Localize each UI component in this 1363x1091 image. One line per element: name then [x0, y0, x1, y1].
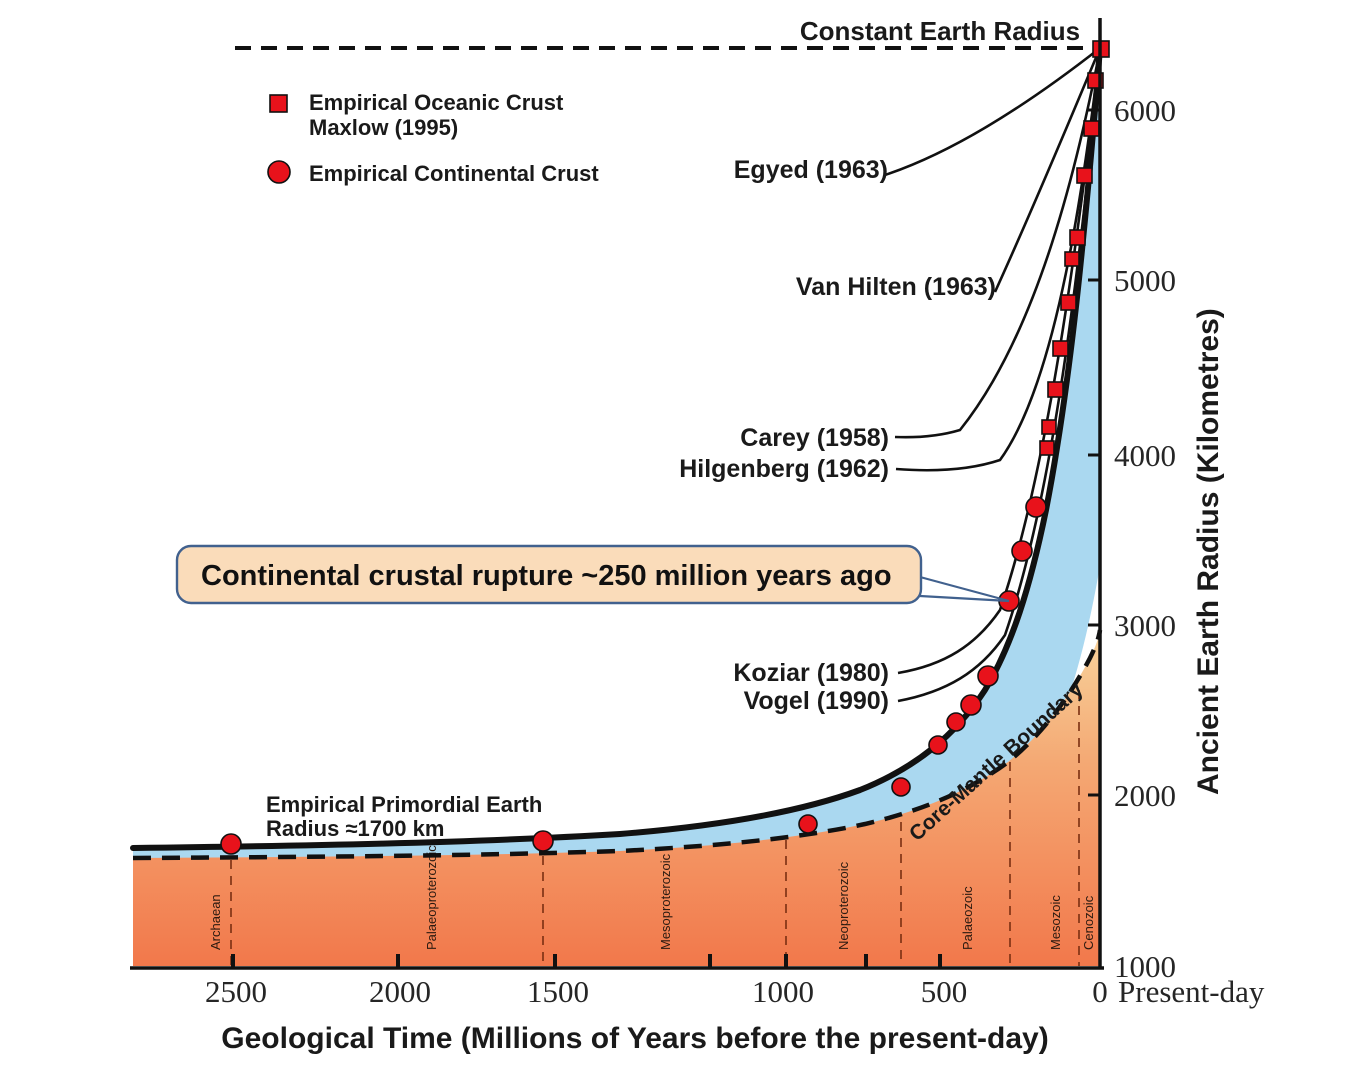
- era-label-archaean: Archaean: [208, 894, 223, 950]
- x-tick-2000: 2000: [369, 974, 431, 1009]
- continental-point: [1012, 541, 1032, 561]
- primordial-line1: Empirical Primordial Earth: [266, 792, 542, 817]
- era-label-palaeozoic: Palaeozoic: [960, 886, 975, 950]
- label-egyed-1963: Egyed (1963): [734, 156, 888, 184]
- y-tick-5000: 5000: [1114, 263, 1176, 298]
- label-koziar-1980: Koziar (1980): [733, 659, 889, 687]
- x-tick-1000: 1000: [752, 974, 814, 1009]
- continental-point: [221, 834, 241, 854]
- y-tick-6000: 6000: [1114, 93, 1176, 128]
- legend-square-marker: [270, 95, 287, 112]
- label-hilgenberg-1962: Hilgenberg (1962): [679, 455, 889, 483]
- era-label-neoproterozoic: Neoproterozoic: [836, 861, 851, 950]
- legend: Empirical Oceanic Crust Maxlow (1995) Em…: [268, 90, 599, 186]
- y-tick-2000: 2000: [1114, 778, 1176, 813]
- primordial-earth-label: Empirical Primordial Earth Radius ≈1700 …: [266, 792, 542, 841]
- x-tick-500: 500: [921, 974, 968, 1009]
- x-tick-1500: 1500: [527, 974, 589, 1009]
- continental-point: [961, 695, 981, 715]
- x-tick-0: 0: [1092, 974, 1108, 1009]
- continental-point: [978, 666, 998, 686]
- era-label-mesozoic: Mesozoic: [1048, 895, 1063, 950]
- label-vogel-1990: Vogel (1990): [744, 687, 889, 715]
- oceanic-point: [1040, 441, 1054, 455]
- legend-label-continental: Empirical Continental Crust: [309, 161, 599, 186]
- oceanic-point: [1053, 341, 1068, 356]
- y-tick-4000: 4000: [1114, 438, 1176, 473]
- chart-svg: Archaean Palaeoproterozoic Mesoproterozo…: [0, 0, 1363, 1091]
- label-van-hilten-1963: Van Hilten (1963): [796, 273, 996, 301]
- chart-figure: Archaean Palaeoproterozoic Mesoproterozo…: [0, 0, 1363, 1091]
- primordial-line2: Radius ≈1700 km: [266, 816, 444, 841]
- continental-point: [892, 778, 910, 796]
- era-label-cenozoic: Cenozoic: [1081, 895, 1096, 950]
- curve-egyed-1963: [885, 48, 1100, 175]
- callout-leader-line: [920, 577, 1009, 601]
- oceanic-point: [1070, 230, 1085, 245]
- continental-point: [799, 815, 817, 833]
- x-axis-labels: 2500 2000 1500 1000 500 0: [205, 974, 1108, 1009]
- oceanic-point: [1077, 168, 1092, 183]
- oceanic-point: [1042, 420, 1056, 434]
- model-curve-labels: Egyed (1963) Van Hilten (1963) Carey (19…: [679, 156, 996, 715]
- legend-circle-marker: [268, 161, 290, 183]
- continental-point: [929, 736, 947, 754]
- y-axis-labels: 6000 5000 4000 3000 2000 1000: [1114, 93, 1176, 984]
- y-tick-3000: 3000: [1114, 608, 1176, 643]
- label-carey-1958: Carey (1958): [740, 424, 889, 452]
- constant-earth-radius-title: Constant Earth Radius: [800, 16, 1080, 46]
- continental-point: [1026, 497, 1046, 517]
- era-label-mesoproterozoic: Mesoproterozoic: [658, 853, 673, 950]
- oceanic-point: [1048, 382, 1063, 397]
- oceanic-point: [1061, 295, 1076, 310]
- present-day-label: Present-day: [1118, 974, 1265, 1009]
- callout-rupture[interactable]: Continental crustal rupture ~250 million…: [177, 546, 1009, 603]
- era-label-palaeoproterozoic: Palaeoproterozoic: [424, 845, 439, 950]
- x-tick-2500: 2500: [205, 974, 267, 1009]
- x-axis-title: Geological Time (Millions of Years befor…: [221, 1022, 1048, 1055]
- y-axis-title: Ancient Earth Radius (Kilometres): [1192, 308, 1225, 795]
- legend-label-oceanic-line2: Maxlow (1995): [309, 115, 458, 140]
- legend-label-oceanic-line1: Empirical Oceanic Crust: [309, 90, 564, 115]
- callout-text: Continental crustal rupture ~250 million…: [201, 560, 892, 592]
- continental-point: [947, 713, 965, 731]
- oceanic-point: [1084, 121, 1099, 136]
- continental-point: [533, 831, 553, 851]
- oceanic-point: [1065, 252, 1079, 266]
